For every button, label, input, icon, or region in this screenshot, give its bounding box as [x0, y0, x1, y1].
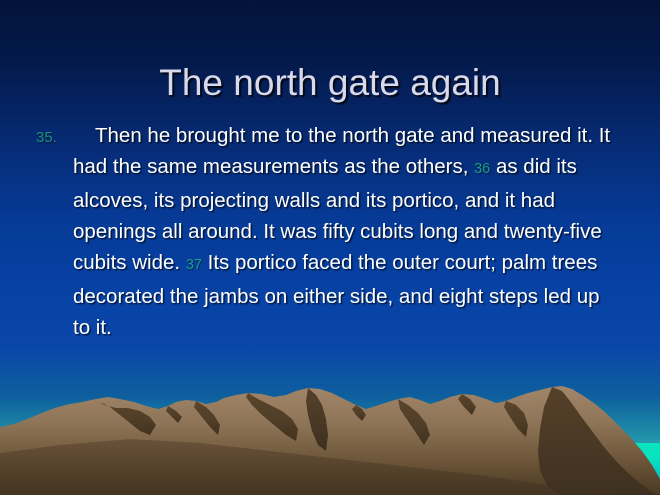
verse-number-36: 36 — [474, 161, 490, 177]
verse-label-35: 35. — [36, 122, 57, 153]
verse-number-37: 37 — [186, 257, 202, 273]
verse-body-block: 35.Then he brought me to the north gate … — [36, 120, 618, 343]
verse-paragraph: 35.Then he brought me to the north gate … — [36, 120, 618, 343]
page-title: The north gate again — [0, 61, 660, 105]
mountain-landscape-graphic — [0, 375, 660, 495]
slide-canvas: The north gate again 35.Then he brought … — [0, 0, 660, 495]
